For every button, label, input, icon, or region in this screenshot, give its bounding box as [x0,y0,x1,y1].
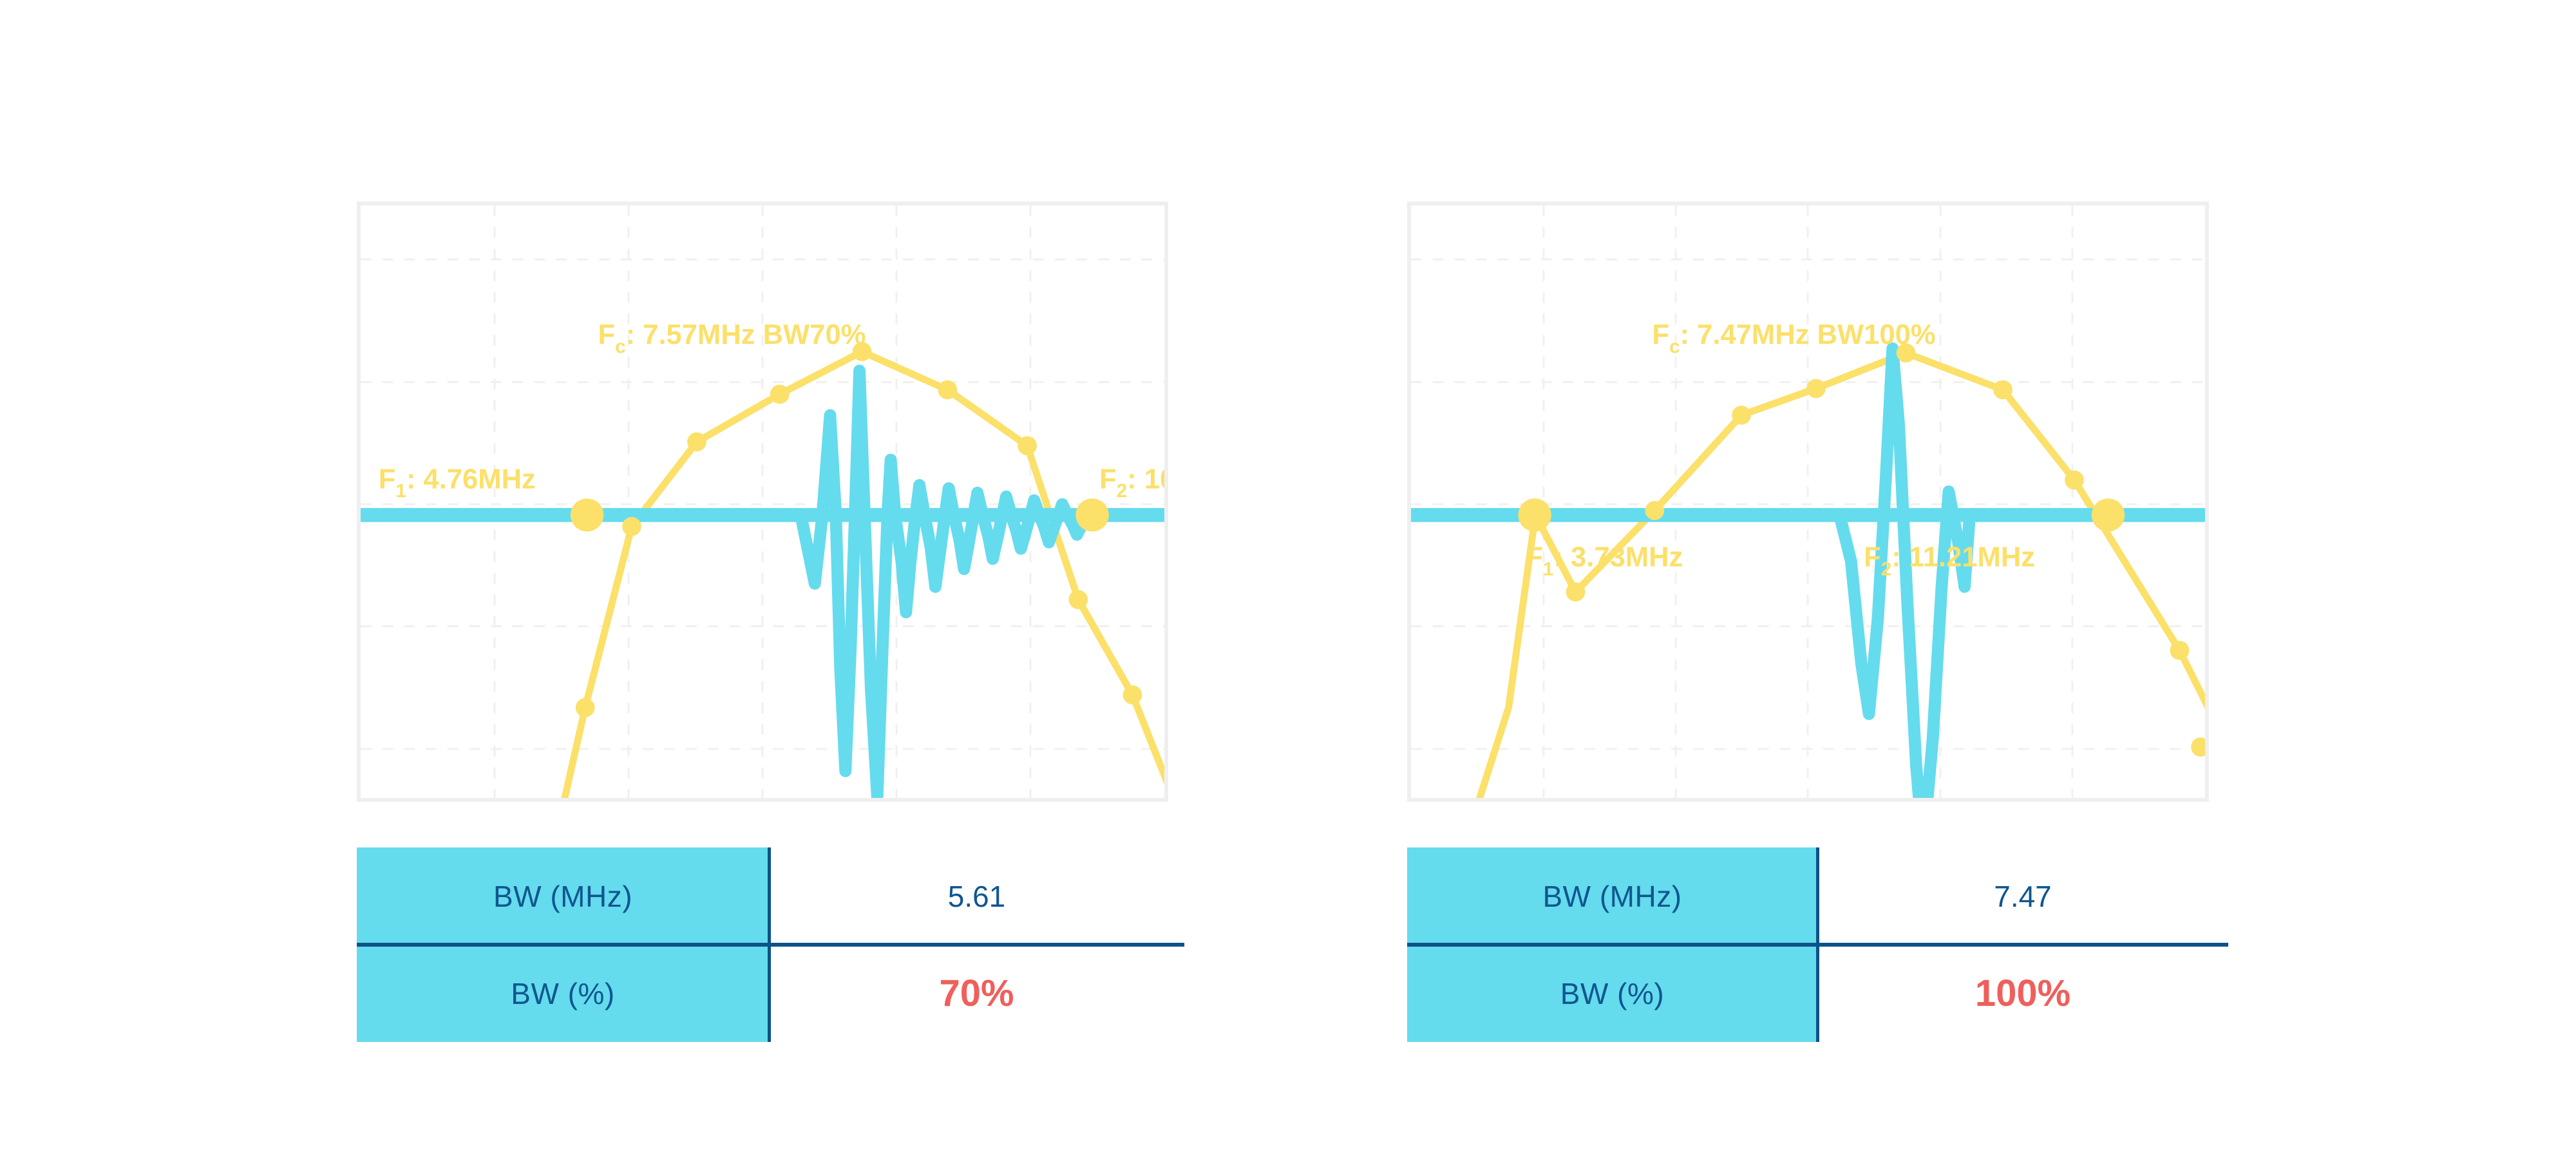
figure-canvas: Fc: 7.57MHz BW70% F1: 4.76MHz F2: 10.37M… [0,0,2576,1154]
marker-f2-broadband [2092,498,2125,531]
spectrum-chart-broadband: Fc: 7.47MHz BW100% F1: 3.73MHz F2: 11.21… [1411,205,2205,798]
row-value-bw-percent: 100% [1817,945,2228,1042]
row-value-bw-mhz: 7.47 [1817,847,2228,945]
panel-narrowband: Fc: 7.57MHz BW70% F1: 4.76MHz F2: 10.37M… [357,202,1168,1042]
label-f2-broadband: F2: 11.21MHz [1864,542,2035,580]
spectrum-chart-narrowband: Fc: 7.57MHz BW70% F1: 4.76MHz F2: 10.37M… [361,205,1164,798]
marker-f1-broadband [1518,498,1551,531]
chart-frame-broadband: Fc: 7.47MHz BW100% F1: 3.73MHz F2: 11.21… [1407,202,2209,802]
row-label-bw-mhz: BW (MHz) [357,847,769,945]
bw-table-narrowband: BW (MHz) 5.61 BW (%) 70% [357,847,1184,1042]
row-label-bw-percent: BW (%) [1407,945,1817,1042]
row-label-bw-mhz: BW (MHz) [1407,847,1817,945]
chart-frame-narrowband: Fc: 7.57MHz BW70% F1: 4.76MHz F2: 10.37M… [357,202,1168,802]
bw-table-broadband: BW (MHz) 7.47 BW (%) 100% [1407,847,2228,1042]
label-f1-narrowband: F1: 4.76MHz [379,464,536,502]
label-center-frequency-narrowband: Fc: 7.57MHz BW70% [598,319,866,357]
row-value-bw-percent: 70% [769,945,1184,1042]
marker-f2-narrowband [1075,498,1109,531]
row-value-bw-mhz: 5.61 [769,847,1184,945]
label-f2-narrowband: F2: 10.37MHz [1099,464,1164,502]
panel-broadband: Fc: 7.47MHz BW100% F1: 3.73MHz F2: 11.21… [1407,202,2209,1042]
marker-f1-narrowband [571,498,604,531]
table-row-divider [1407,943,2228,947]
table-row-divider [357,943,1184,947]
row-label-bw-percent: BW (%) [357,945,769,1042]
